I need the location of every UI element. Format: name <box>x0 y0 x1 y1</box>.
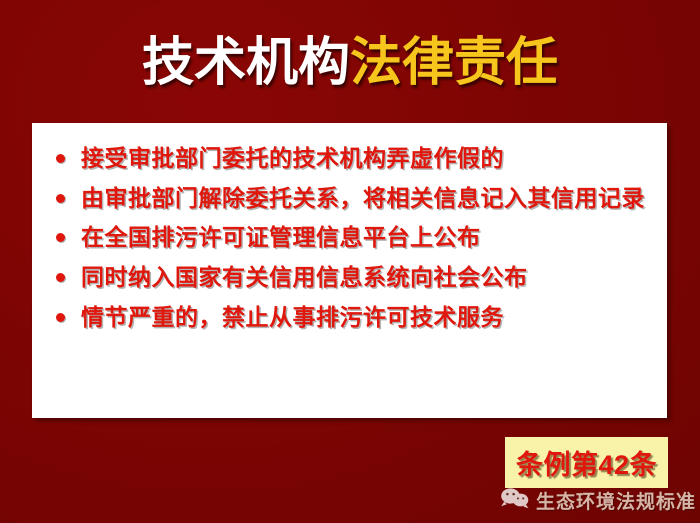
title-segment-gold: 法律责任 <box>350 34 558 92</box>
content-panel: 接受审批部门委托的技术机构弄虚作假的 由审批部门解除委托关系，将相关信息记入其信… <box>32 123 667 418</box>
bullet-text: 由审批部门解除委托关系，将相关信息记入其信用记录 <box>81 185 645 211</box>
watermark-label: 生态环境法规标准 <box>536 487 696 514</box>
bullet-list: 接受审批部门委托的技术机构弄虚作假的 由审批部门解除委托关系，将相关信息记入其信… <box>32 123 667 333</box>
bullet-text: 情节严重的，禁止从事排污许可技术服务 <box>81 304 504 330</box>
list-item: 同时纳入国家有关信用信息系统向社会公布 <box>46 261 657 294</box>
bullet-text: 同时纳入国家有关信用信息系统向社会公布 <box>81 264 528 290</box>
slide-root: 技术机构法律责任 接受审批部门委托的技术机构弄虚作假的 由审批部门解除委托关系，… <box>0 0 700 523</box>
wechat-watermark: 生态环境法规标准 <box>500 487 696 514</box>
bullet-text: 在全国排污许可证管理信息平台上公布 <box>81 224 481 250</box>
badge-label: 条例第42条 <box>516 443 657 482</box>
list-item: 接受审批部门委托的技术机构弄虚作假的 <box>46 142 657 175</box>
page-title: 技术机构法律责任 <box>0 37 700 89</box>
wechat-icon <box>500 487 530 514</box>
list-item: 情节严重的，禁止从事排污许可技术服务 <box>46 301 657 334</box>
regulation-reference-badge: 条例第42条 <box>505 437 668 488</box>
list-item: 在全国排污许可证管理信息平台上公布 <box>46 221 657 254</box>
title-segment-white: 技术机构 <box>142 34 350 92</box>
list-item: 由审批部门解除委托关系，将相关信息记入其信用记录 <box>46 182 657 215</box>
bullet-text: 接受审批部门委托的技术机构弄虚作假的 <box>81 145 504 171</box>
